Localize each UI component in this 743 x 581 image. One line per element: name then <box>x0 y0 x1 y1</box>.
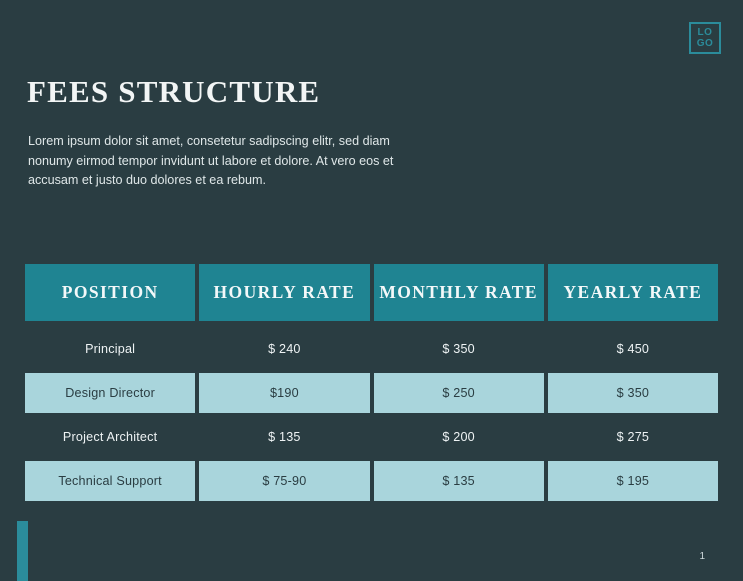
cell-position: Project Architect <box>25 417 195 457</box>
logo-line-1: LO <box>698 27 713 38</box>
cell-hourly-rate: $190 <box>199 373 369 413</box>
cell-monthly-rate: $ 250 <box>374 373 544 413</box>
table-row: Project Architect $ 135 $ 200 $ 275 <box>25 417 718 457</box>
table-header-row: POSITION HOURLY RATE MONTHLY RATE YEARLY… <box>25 264 718 321</box>
logo-line-2: GO <box>697 38 714 49</box>
cell-hourly-rate: $ 75-90 <box>199 461 369 501</box>
cell-yearly-rate: $ 195 <box>548 461 718 501</box>
column-header-hourly-rate: HOURLY RATE <box>199 264 369 321</box>
cell-position: Technical Support <box>25 461 195 501</box>
column-header-position: POSITION <box>25 264 195 321</box>
cell-position: Design Director <box>25 373 195 413</box>
table-row: Principal $ 240 $ 350 $ 450 <box>25 329 718 369</box>
table-row: Technical Support $ 75-90 $ 135 $ 195 <box>25 461 718 501</box>
fees-table: POSITION HOURLY RATE MONTHLY RATE YEARLY… <box>25 264 718 505</box>
column-header-monthly-rate: MONTHLY RATE <box>374 264 544 321</box>
cell-monthly-rate: $ 135 <box>374 461 544 501</box>
page-title: FEES STRUCTURE <box>27 76 320 109</box>
intro-paragraph: Lorem ipsum dolor sit amet, consetetur s… <box>28 132 428 191</box>
page-number: 1 <box>699 551 705 562</box>
cell-yearly-rate: $ 450 <box>548 329 718 369</box>
slide-canvas: LO GO FEES STRUCTURE Lorem ipsum dolor s… <box>0 0 743 575</box>
column-header-yearly-rate: YEARLY RATE <box>548 264 718 321</box>
logo: LO GO <box>689 22 721 54</box>
cell-monthly-rate: $ 200 <box>374 417 544 457</box>
footer-accent-bar <box>17 521 28 581</box>
cell-yearly-rate: $ 350 <box>548 373 718 413</box>
cell-position: Principal <box>25 329 195 369</box>
cell-monthly-rate: $ 350 <box>374 329 544 369</box>
cell-hourly-rate: $ 135 <box>199 417 369 457</box>
cell-hourly-rate: $ 240 <box>199 329 369 369</box>
cell-yearly-rate: $ 275 <box>548 417 718 457</box>
table-row: Design Director $190 $ 250 $ 350 <box>25 373 718 413</box>
